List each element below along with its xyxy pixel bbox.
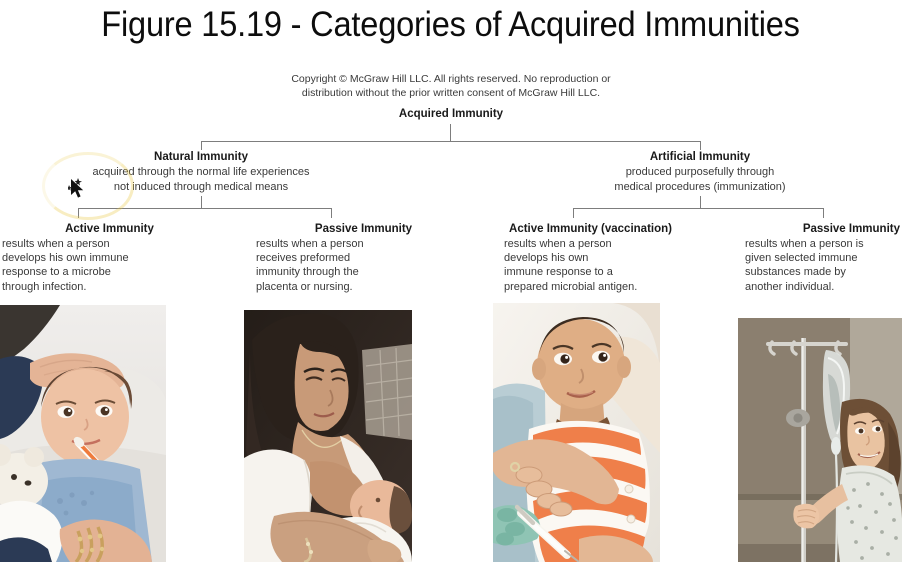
leaf-artificial-passive-desc-1: results when a person is [745,237,902,251]
leaf-artificial-active-desc-4: prepared microbial antigen. [478,280,703,294]
leaf-natural-active: Active Immunity results when a person de… [2,222,217,294]
node-artificial-desc-2: medical procedures (immunization) [535,180,865,195]
leaf-artificial-active: Active Immunity (vaccination) results wh… [478,222,703,294]
leaf-natural-active-desc-3: response to a microbe [2,265,217,279]
connector-top-bar [201,141,701,142]
connector-natural-drop [201,141,202,150]
leaf-artificial-passive: Passive Immunity results when a person i… [745,222,902,294]
leaf-natural-passive-desc-1: results when a person [256,237,471,251]
leaf-artificial-active-desc-1: results when a person [478,237,703,251]
leaf-natural-passive-desc-4: placenta or nursing. [256,280,471,294]
leaf-natural-passive-heading: Passive Immunity [256,222,471,237]
leaf-natural-active-desc-2: develops his own immune [2,251,217,265]
page-title: Figure 15.19 - Categories of Acquired Im… [102,7,800,42]
node-artificial-desc-1: produced purposefully through [535,165,865,180]
connector-root-stem [450,124,451,141]
copyright-notice: Copyright © McGraw Hill LLC. All rights … [201,72,701,100]
leaf-artificial-passive-desc-3: substances made by [745,265,902,279]
node-natural-heading: Natural Immunity [36,150,366,165]
node-artificial-immunity: Artificial Immunity produced purposefull… [535,150,865,194]
leaf-natural-passive: Passive Immunity results when a person r… [256,222,471,294]
connector-natural-stem [201,196,202,208]
leaf-artificial-active-heading: Active Immunity (vaccination) [478,222,703,237]
leaf-artificial-passive-desc-4: another individual. [745,280,902,294]
leaf-artificial-passive-heading: Passive Immunity [745,222,902,237]
leaf-artificial-active-desc-2: develops his own [478,251,703,265]
connector-artificial-drop [700,141,701,150]
leaf-natural-active-heading: Active Immunity [2,222,217,237]
slide-canvas: Figure 15.19 - Categories of Acquired Im… [0,0,902,562]
photo-mother-nursing-newborn [244,310,412,562]
connector-natural-active-drop [78,208,79,218]
leaf-artificial-active-desc-3: immune response to a [478,265,703,279]
node-artificial-heading: Artificial Immunity [535,150,865,165]
connector-natural-bar [78,208,331,209]
photo-sick-child-with-thermometer [0,305,166,562]
slide-title-bar: Figure 15.19 - Categories of Acquired Im… [0,0,902,48]
connector-artificial-passive-drop [823,208,824,218]
leaf-artificial-passive-desc-2: given selected immune [745,251,902,265]
diagram-root-label: Acquired Immunity [201,108,701,121]
mouse-pointer-icon [68,178,92,202]
copyright-line-1: Copyright © McGraw Hill LLC. All rights … [201,72,701,86]
copyright-line-2: distribution without the prior written c… [201,86,701,100]
leaf-natural-active-desc-4: through infection. [2,280,217,294]
connector-natural-passive-drop [331,208,332,218]
connector-artificial-active-drop [573,208,574,218]
photo-girl-with-iv-drip-stand [738,318,902,562]
connector-artificial-stem [700,196,701,208]
leaf-natural-active-desc-1: results when a person [2,237,217,251]
connector-artificial-bar [573,208,823,209]
photo-toddler-receiving-injection [493,303,660,562]
leaf-natural-passive-desc-2: receives preformed [256,251,471,265]
leaf-natural-passive-desc-3: immunity through the [256,265,471,279]
